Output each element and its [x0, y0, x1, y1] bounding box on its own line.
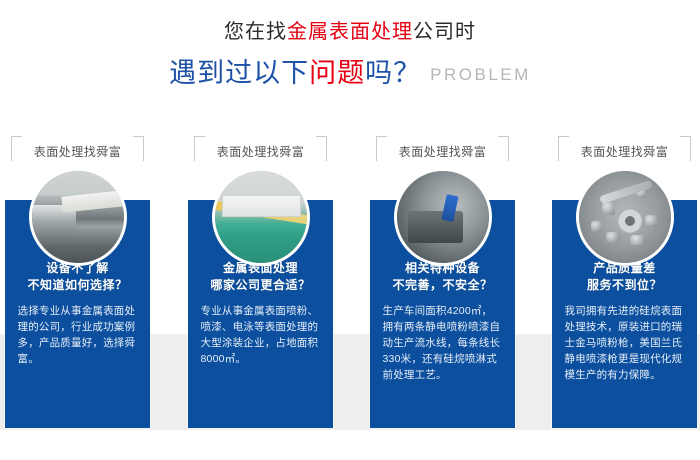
card-text-block: 金属表面处理 哪家公司更合适？ 专业从事金属表面喷粉、喷漆、电泳等表面处理的大型… — [188, 260, 333, 367]
workshop-corridor-photo — [212, 168, 310, 266]
card-title-line2: 不知道如何选择？ — [5, 277, 150, 294]
photo-image — [215, 171, 307, 263]
fasteners-products-photo — [576, 168, 674, 266]
heading-line1-prefix: 您在找 — [224, 21, 287, 43]
card-text-block: 产品质量差 服务不到位？ 我司拥有先进的硅烷表面处理技术，原装进口的瑞士金马喷粉… — [552, 260, 697, 383]
card-tag: 表面处理找舜富 — [370, 136, 515, 166]
heading-line1-highlight: 金属表面处理 — [287, 21, 413, 43]
photo-image — [397, 171, 489, 263]
card-body-text: 我司拥有先进的硅烷表面处理技术，原装进口的瑞士金马喷粉枪，美国兰氏静电喷漆枪更是… — [565, 303, 685, 383]
photo-image — [32, 171, 124, 263]
heading-line2-highlight: 问题 — [309, 58, 365, 88]
problem-card-list: 表面处理找舜富 设备不了解 不知道如何选择？ 选择专业从事金属表面处理的公司，行… — [0, 136, 700, 436]
lathe-machining-photo — [29, 168, 127, 266]
card-tag-label: 表面处理找舜富 — [552, 143, 697, 160]
bolt-shape — [630, 235, 646, 245]
promo-banner: 您在找金属表面处理公司时 遇到过以下问题吗？PROBLEM 表面处理找舜富 设备… — [0, 0, 700, 460]
nut-shape — [645, 215, 657, 227]
card-title-line2: 服务不到位？ — [552, 277, 697, 294]
heading-line-2: 遇到过以下问题吗？PROBLEM — [0, 55, 700, 93]
bolts-equipment-photo — [394, 168, 492, 266]
problem-card[interactable]: 表面处理找舜富 产品质量差 服务不到位？ 我司拥有先进的硅烷表面处理技术，原装进… — [552, 136, 697, 428]
card-tag-label: 表面处理找舜富 — [370, 143, 515, 160]
heading-line1-suffix: 公司时 — [413, 21, 476, 43]
nut-shape — [591, 221, 602, 232]
card-tag: 表面处理找舜富 — [5, 136, 150, 166]
card-text-block: 设备不了解 不知道如何选择？ 选择专业从事金属表面处理的公司，行业成功案例多，产… — [5, 260, 150, 367]
heading-english-label: PROBLEM — [430, 65, 531, 84]
heading-block: 您在找金属表面处理公司时 遇到过以下问题吗？PROBLEM — [0, 18, 700, 93]
card-title-line2: 不完善，不安全？ — [370, 277, 515, 294]
card-body-text: 选择专业从事金属表面处理的公司，行业成功案例多，产品质量好，选择舜富。 — [18, 303, 138, 367]
problem-card[interactable]: 表面处理找舜富 相关特种设备 不完善，不安全？ 生产车间面积4200㎡，拥有两条… — [370, 136, 515, 428]
card-title-line2: 哪家公司更合适？ — [188, 277, 333, 294]
heading-line2-prefix: 遇到过以下 — [169, 58, 309, 88]
card-body-text: 生产车间面积4200㎡，拥有两条静电喷粉喷漆自动生产流水线，每条线长330米，还… — [383, 303, 503, 383]
card-tag-label: 表面处理找舜富 — [188, 143, 333, 160]
card-text-block: 相关特种设备 不完善，不安全？ 生产车间面积4200㎡，拥有两条静电喷粉喷漆自动… — [370, 260, 515, 383]
card-tag: 表面处理找舜富 — [188, 136, 333, 166]
card-tag: 表面处理找舜富 — [552, 136, 697, 166]
nut-shape — [602, 202, 615, 215]
card-tag-label: 表面处理找舜富 — [5, 143, 150, 160]
nut-shape — [636, 188, 646, 198]
heading-line-1: 您在找金属表面处理公司时 — [0, 18, 700, 46]
problem-card[interactable]: 表面处理找舜富 金属表面处理 哪家公司更合适？ 专业从事金属表面喷粉、喷漆、电泳… — [188, 136, 333, 428]
heading-line2-suffix: 吗？ — [365, 58, 421, 88]
card-body-text: 专业从事金属表面喷粉、喷漆、电泳等表面处理的大型涂装企业，占地面积8000㎡。 — [201, 303, 321, 367]
problem-card[interactable]: 表面处理找舜富 设备不了解 不知道如何选择？ 选择专业从事金属表面处理的公司，行… — [5, 136, 150, 428]
photo-image — [579, 171, 671, 263]
bolt-shape — [606, 232, 620, 242]
